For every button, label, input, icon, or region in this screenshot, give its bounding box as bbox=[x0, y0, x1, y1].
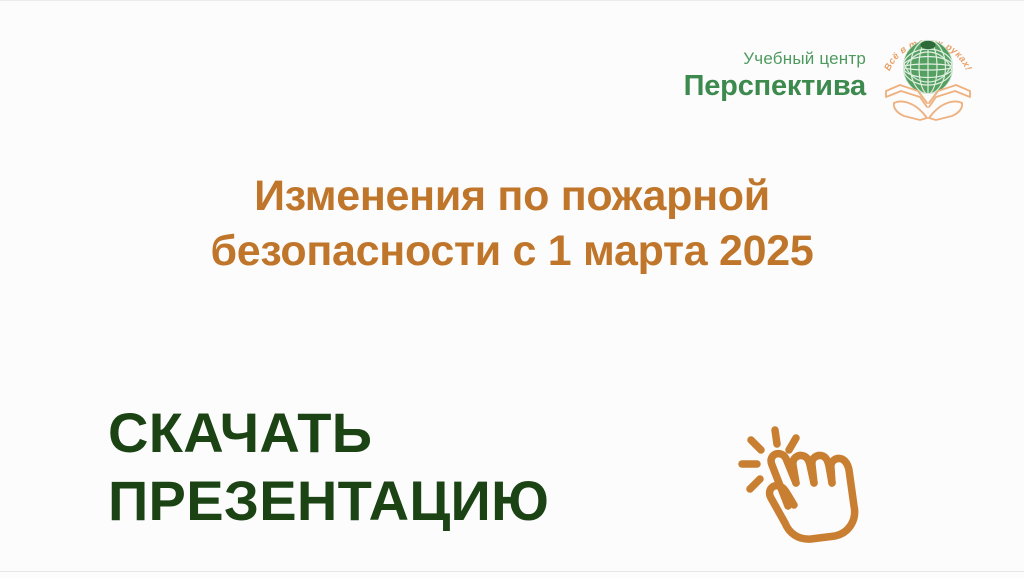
page-title-line-1: Изменения по пожарной bbox=[0, 169, 1024, 224]
brand-logo[interactable]: Учебный центр Перспектива Всё в твоих ру… bbox=[684, 25, 976, 125]
bottom-divider bbox=[0, 571, 1024, 572]
cta-line-2: ПРЕЗЕНТАЦИЮ bbox=[108, 467, 549, 535]
page-title: Изменения по пожарной безопасности с 1 м… bbox=[0, 169, 1024, 279]
download-presentation-cta[interactable]: СКАЧАТЬ ПРЕЗЕНТАЦИЮ bbox=[108, 399, 549, 536]
presentation-slide: Учебный центр Перспектива Всё в твоих ру… bbox=[0, 0, 1024, 578]
logo-subtitle: Учебный центр bbox=[743, 50, 866, 67]
logo-name: Перспектива bbox=[684, 72, 866, 101]
globe-in-hands-emblem-icon: Всё в твоих руках! bbox=[880, 25, 976, 125]
click-hand-cursor-icon[interactable] bbox=[738, 413, 898, 543]
emblem-globe bbox=[903, 40, 953, 94]
cta-line-1: СКАЧАТЬ bbox=[108, 399, 549, 467]
logo-wordmark: Учебный центр Перспектива bbox=[684, 50, 866, 101]
page-title-line-2: безопасности с 1 марта 2025 bbox=[0, 224, 1024, 279]
